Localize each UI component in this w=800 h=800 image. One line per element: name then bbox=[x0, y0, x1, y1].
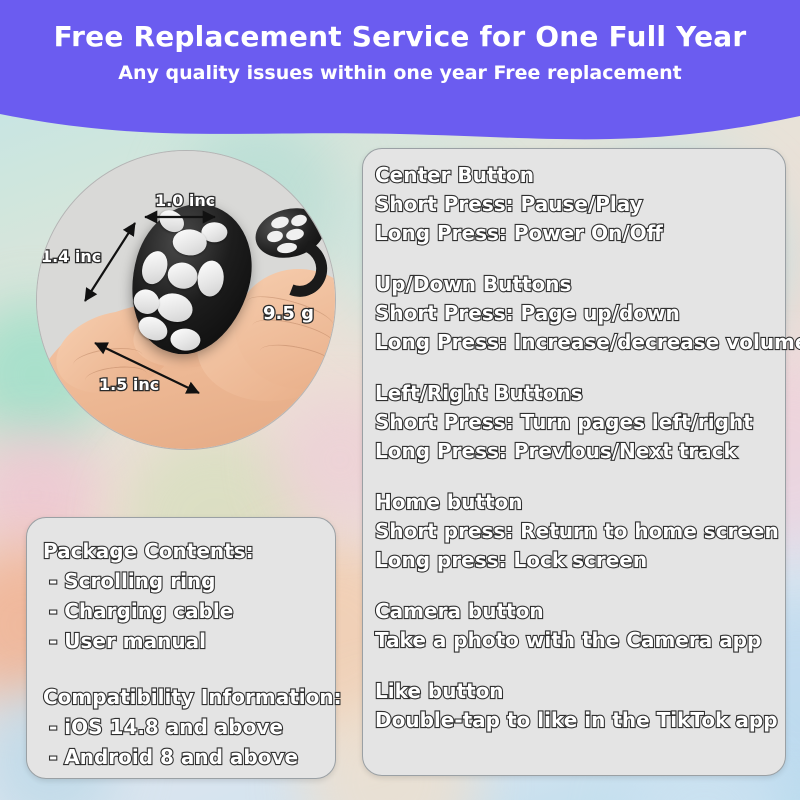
package-list: Package Contents:- Scrolling ring- Charg… bbox=[43, 536, 342, 772]
dimension-length-label: 1.5 inc bbox=[99, 375, 159, 394]
instruction-line: Short press: Return to home screen bbox=[375, 517, 775, 546]
instruction-group-title: Camera button bbox=[375, 597, 775, 626]
instruction-group-title: Up/Down Buttons bbox=[375, 270, 775, 299]
group-spacer bbox=[375, 655, 775, 677]
button-instructions-card: Center ButtonShort Press: Pause/PlayLong… bbox=[362, 148, 786, 776]
group-spacer bbox=[375, 466, 775, 488]
instruction-line: Short Press: Turn pages left/right bbox=[375, 408, 775, 437]
group-spacer bbox=[375, 575, 775, 597]
package-item: - User manual bbox=[43, 626, 342, 656]
compatibility-title: Compatibility Information: bbox=[43, 682, 342, 712]
instruction-line: Double-tap to like in the TikTok app bbox=[375, 706, 775, 735]
weight-label: 9.5 g bbox=[263, 303, 314, 324]
package-item: - Charging cable bbox=[43, 596, 342, 626]
package-contents-title: Package Contents: bbox=[43, 536, 342, 566]
instruction-line: Long Press: Increase/decrease volume bbox=[375, 328, 775, 357]
package-item: - Scrolling ring bbox=[43, 566, 342, 596]
page-title: Free Replacement Service for One Full Ye… bbox=[0, 20, 800, 53]
infographic-canvas: Free Replacement Service for One Full Ye… bbox=[0, 0, 800, 800]
section-spacer bbox=[43, 656, 342, 682]
instruction-line: Short Press: Page up/down bbox=[375, 299, 775, 328]
package-contents-card: Package Contents:- Scrolling ring- Charg… bbox=[26, 517, 336, 779]
instruction-line: Long press: Lock screen bbox=[375, 546, 775, 575]
instruction-group-title: Left/Right Buttons bbox=[375, 379, 775, 408]
group-spacer bbox=[375, 357, 775, 379]
instruction-line: Short Press: Pause/Play bbox=[375, 190, 775, 219]
instruction-line: Long Press: Power On/Off bbox=[375, 219, 775, 248]
instruction-group-title: Like button bbox=[375, 677, 775, 706]
compatibility-item: - Android 8 and above bbox=[43, 742, 342, 772]
dimension-width-label: 1.0 inc bbox=[155, 191, 215, 210]
instructions-list: Center ButtonShort Press: Pause/PlayLong… bbox=[375, 161, 775, 735]
instruction-line: Long Press: Previous/Next track bbox=[375, 437, 775, 466]
dimension-height-label: 1.4 inc bbox=[41, 247, 101, 266]
product-photo-circle: 1.0 inc 1.4 inc 1.5 inc 9.5 g bbox=[36, 150, 336, 450]
instruction-group-title: Home button bbox=[375, 488, 775, 517]
instruction-group-title: Center Button bbox=[375, 161, 775, 190]
group-spacer bbox=[375, 248, 775, 270]
compatibility-item: - iOS 14.8 and above bbox=[43, 712, 342, 742]
instruction-line: Take a photo with the Camera app bbox=[375, 626, 775, 655]
header-banner: Free Replacement Service for One Full Ye… bbox=[0, 0, 800, 150]
page-subtitle: Any quality issues within one year Free … bbox=[0, 62, 800, 84]
